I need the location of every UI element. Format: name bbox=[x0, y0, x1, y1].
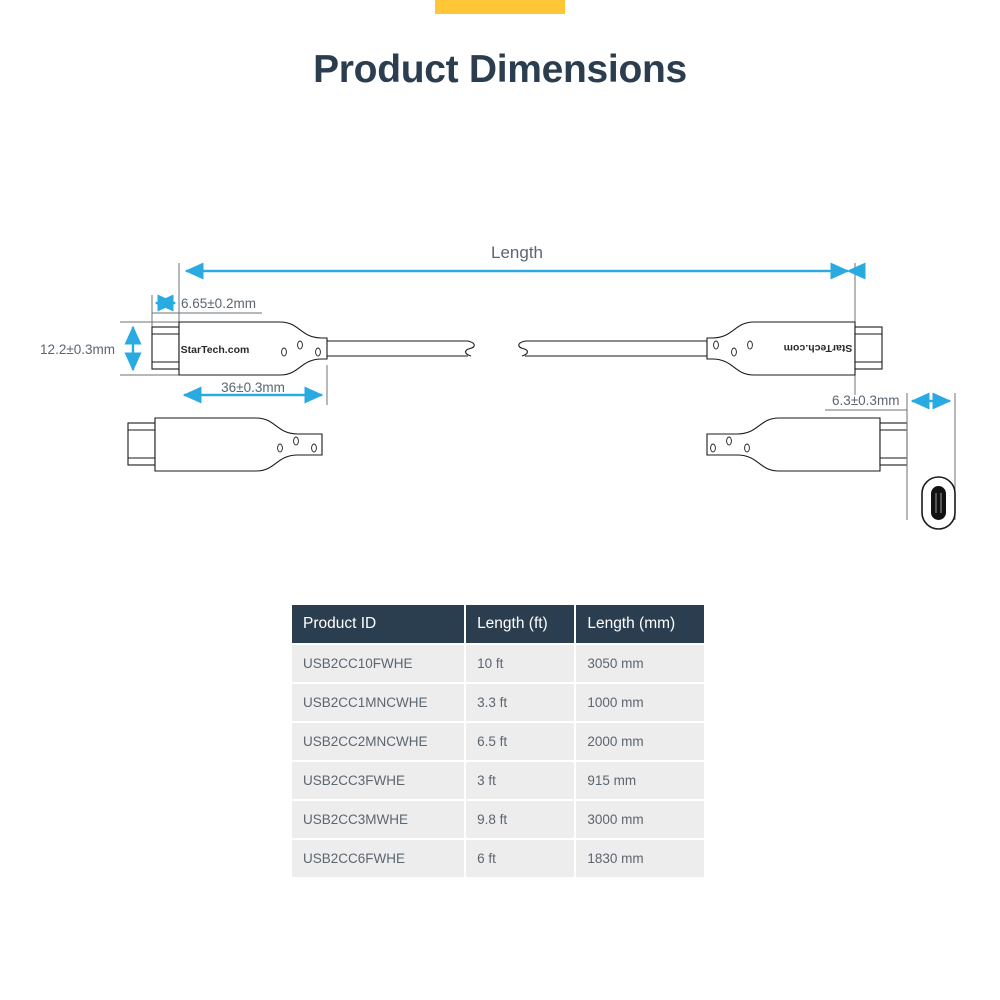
height-dimension-label: 12.2±0.3mm bbox=[40, 342, 115, 357]
cell-length-mm: 1830 mm bbox=[576, 840, 704, 877]
cell-length-mm: 3000 mm bbox=[576, 801, 704, 838]
right-cable-break bbox=[519, 341, 528, 356]
table-row: USB2CC3MWHE 9.8 ft 3000 mm bbox=[292, 801, 704, 838]
cell-length-mm: 2000 mm bbox=[576, 723, 704, 760]
cell-length-mm: 915 mm bbox=[576, 762, 704, 799]
product-dimension-diagram: Length 6.65±0.2mm 12.2±0.3mm 36±0.3mm bbox=[0, 215, 1000, 545]
column-header-length-ft: Length (ft) bbox=[466, 605, 574, 643]
length-label: Length bbox=[491, 243, 543, 262]
product-specification-table: Product ID Length (ft) Length (mm) USB2C… bbox=[290, 603, 706, 879]
table-row: USB2CC6FWHE 6 ft 1830 mm bbox=[292, 840, 704, 877]
accent-bar bbox=[435, 0, 565, 14]
left-plug-tip bbox=[152, 327, 179, 369]
right-cable-jacket bbox=[525, 341, 712, 356]
table-row: USB2CC3FWHE 3 ft 915 mm bbox=[292, 762, 704, 799]
column-header-length-mm: Length (mm) bbox=[576, 605, 704, 643]
table-row: USB2CC2MNCWHE 6.5 ft 2000 mm bbox=[292, 723, 704, 760]
left-brand-label: StarTech.com bbox=[181, 344, 250, 356]
right-bottom-plug-tip bbox=[880, 423, 907, 465]
cell-length-mm: 1000 mm bbox=[576, 684, 704, 721]
cell-product-id: USB2CC1MNCWHE bbox=[292, 684, 464, 721]
cell-product-id: USB2CC6FWHE bbox=[292, 840, 464, 877]
right-connector-bottom-view bbox=[707, 418, 907, 471]
cell-length-mm: 3050 mm bbox=[576, 645, 704, 682]
table-row: USB2CC10FWHE 10 ft 3050 mm bbox=[292, 645, 704, 682]
left-cable-break bbox=[466, 341, 475, 356]
usb-c-inner-port bbox=[931, 486, 946, 520]
width-dimension-label: 6.65±0.2mm bbox=[181, 296, 256, 311]
cell-length-ft: 9.8 ft bbox=[466, 801, 574, 838]
left-bottom-plug-tip bbox=[128, 423, 155, 465]
left-connector-bottom-view bbox=[128, 418, 322, 471]
cell-length-ft: 3 ft bbox=[466, 762, 574, 799]
page-title: Product Dimensions bbox=[0, 48, 1000, 92]
usb-c-end-view bbox=[922, 477, 955, 529]
right-bottom-connector-body bbox=[707, 418, 880, 471]
cell-length-ft: 6 ft bbox=[466, 840, 574, 877]
plug-width-dimension-label: 6.3±0.3mm bbox=[832, 393, 899, 408]
right-plug-tip bbox=[855, 327, 882, 369]
left-cable-jacket bbox=[327, 341, 468, 356]
cell-product-id: USB2CC10FWHE bbox=[292, 645, 464, 682]
cell-length-ft: 10 ft bbox=[466, 645, 574, 682]
cell-product-id: USB2CC3MWHE bbox=[292, 801, 464, 838]
cell-length-ft: 6.5 ft bbox=[466, 723, 574, 760]
cell-length-ft: 3.3 ft bbox=[466, 684, 574, 721]
column-header-product-id: Product ID bbox=[292, 605, 464, 643]
table-header-row: Product ID Length (ft) Length (mm) bbox=[292, 605, 704, 643]
cell-product-id: USB2CC2MNCWHE bbox=[292, 723, 464, 760]
cell-product-id: USB2CC3FWHE bbox=[292, 762, 464, 799]
right-brand-label: StarTech.com bbox=[784, 342, 853, 354]
table-row: USB2CC1MNCWHE 3.3 ft 1000 mm bbox=[292, 684, 704, 721]
conn-length-dimension-label: 36±0.3mm bbox=[221, 380, 285, 395]
